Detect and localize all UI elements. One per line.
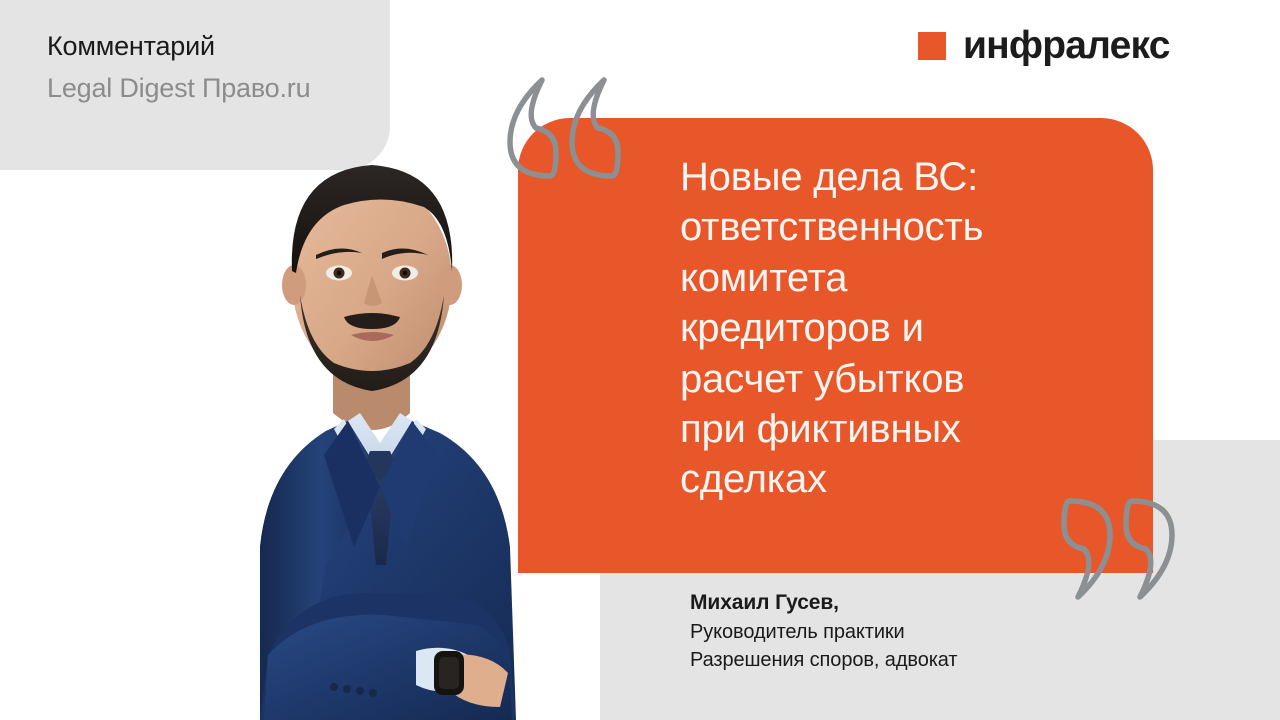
speaker-name: Михаил Гусев, [690,588,1090,618]
brand-logo[interactable]: инфралекс [918,26,1170,65]
slide-canvas: Новые дела ВС: ответственность комитета … [0,0,1280,720]
label-primary: Комментарий [47,28,377,64]
speaker-role-line-2: Разрешения споров, адвокат [690,646,1090,674]
attribution-block: Михаил Гусев, Руководитель практики Разр… [690,588,1090,675]
speaker-role-line-1: Руководитель практики [690,618,1090,646]
orange-square-icon [918,32,946,60]
label-secondary: Legal Digest Право.ru [47,70,377,106]
quote-open-icon [498,72,633,182]
headline-text: Новые дела ВС: ответственность комитета … [680,152,1100,505]
brand-name: инфралекс [963,26,1170,65]
label-block: Комментарий Legal Digest Право.ru [47,28,377,107]
